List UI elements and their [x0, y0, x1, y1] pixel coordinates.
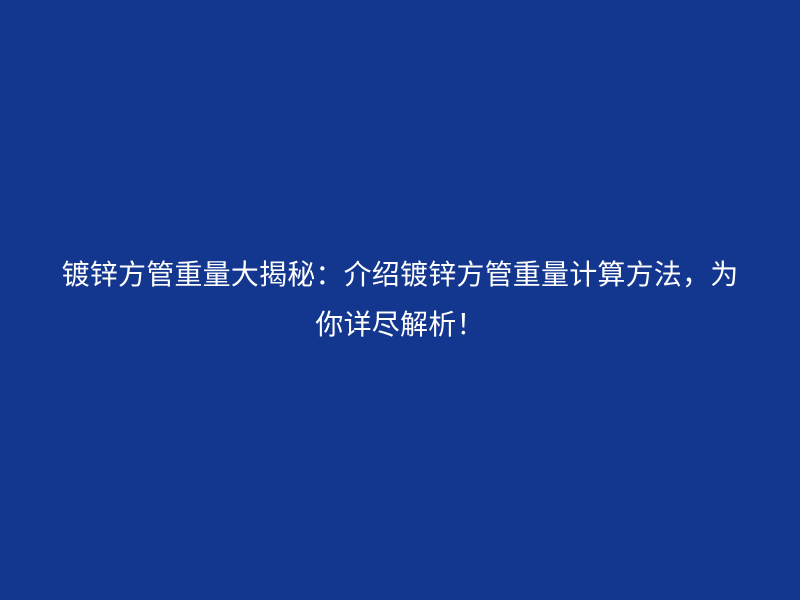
title-card-canvas: 镀锌方管重量大揭秘：介绍镀锌方管重量计算方法，为你详尽解析！ [0, 0, 800, 600]
headline-block: 镀锌方管重量大揭秘：介绍镀锌方管重量计算方法，为你详尽解析！ [0, 250, 800, 350]
page-title: 镀锌方管重量大揭秘：介绍镀锌方管重量计算方法，为你详尽解析！ [52, 250, 748, 350]
